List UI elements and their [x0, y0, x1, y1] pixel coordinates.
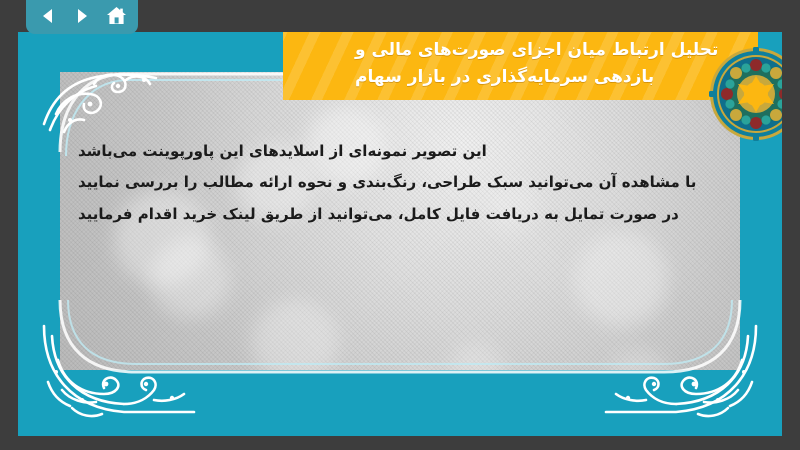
slide-title-banner: تحلیل ارتباط میان اجزای صورت‌های مالی و … [283, 32, 758, 100]
body-line-2: با مشاهده آن می‌توانید سبک طراحی، رنگ‌بن… [78, 171, 696, 194]
body-line-3: در صورت تمایل به دریافت فایل کامل، می‌تو… [78, 203, 679, 226]
slide-viewer: تحلیل ارتباط میان اجزای صورت‌های مالی و … [0, 0, 800, 450]
next-slide-button[interactable] [69, 3, 95, 29]
slide-navigation-bar [26, 0, 138, 34]
slide-title-line-2: بازدهی سرمایه‌گذاری در بازار سهام [355, 65, 654, 90]
previous-slide-button[interactable] [35, 3, 61, 29]
slide-body-text: این تصویر نمونه‌ای از اسلایدهای این پاور… [78, 140, 722, 226]
persian-medallion-ornament [708, 46, 782, 142]
triangle-right-icon [73, 7, 91, 25]
home-icon [106, 6, 127, 26]
slide-title: تحلیل ارتباط میان اجزای صورت‌های مالی و … [283, 32, 758, 100]
body-line-1: این تصویر نمونه‌ای از اسلایدهای این پاور… [78, 140, 487, 163]
slide-title-line-1: تحلیل ارتباط میان اجزای صورت‌های مالی و [355, 38, 718, 63]
triangle-left-icon [39, 7, 57, 25]
home-button[interactable] [103, 3, 129, 29]
slide-canvas: تحلیل ارتباط میان اجزای صورت‌های مالی و … [18, 32, 782, 436]
